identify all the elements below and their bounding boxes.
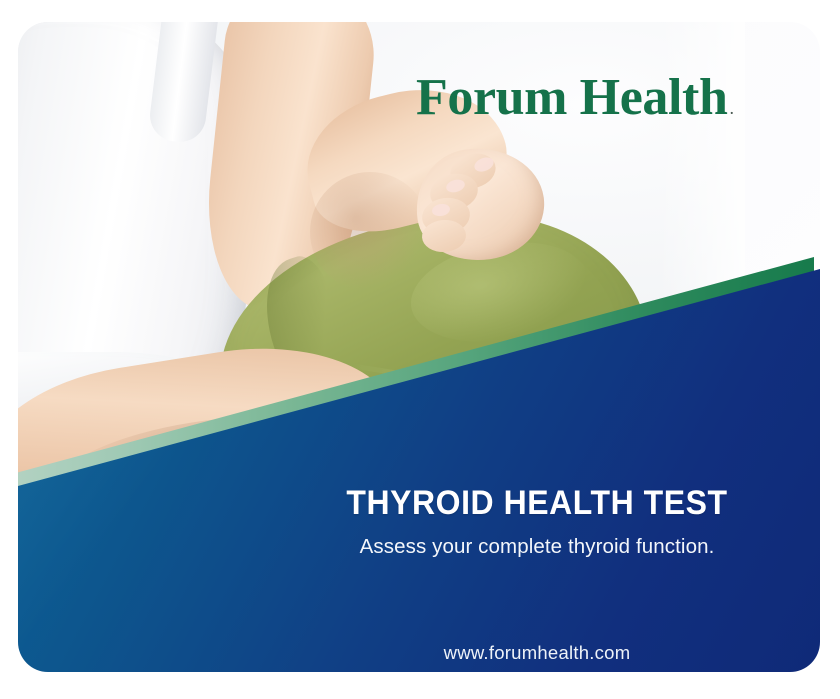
headline-block: THYROID HEALTH TEST Assess your complete… [302,486,772,560]
screenshot-canvas: Forum Health. THYROID HEALTH TEST Assess… [0,0,840,699]
photo-elbow-shading [310,172,430,292]
website-url[interactable]: www.forumhealth.com [302,642,772,664]
page-title: THYROID HEALTH TEST [316,486,758,521]
page-subtitle: Assess your complete thyroid function. [302,534,772,560]
brand-trademark-icon: . [730,98,735,118]
brand-logo: Forum Health. [416,72,776,124]
brand-name: Forum Health [416,72,728,124]
promo-card: Forum Health. THYROID HEALTH TEST Assess… [18,22,820,672]
